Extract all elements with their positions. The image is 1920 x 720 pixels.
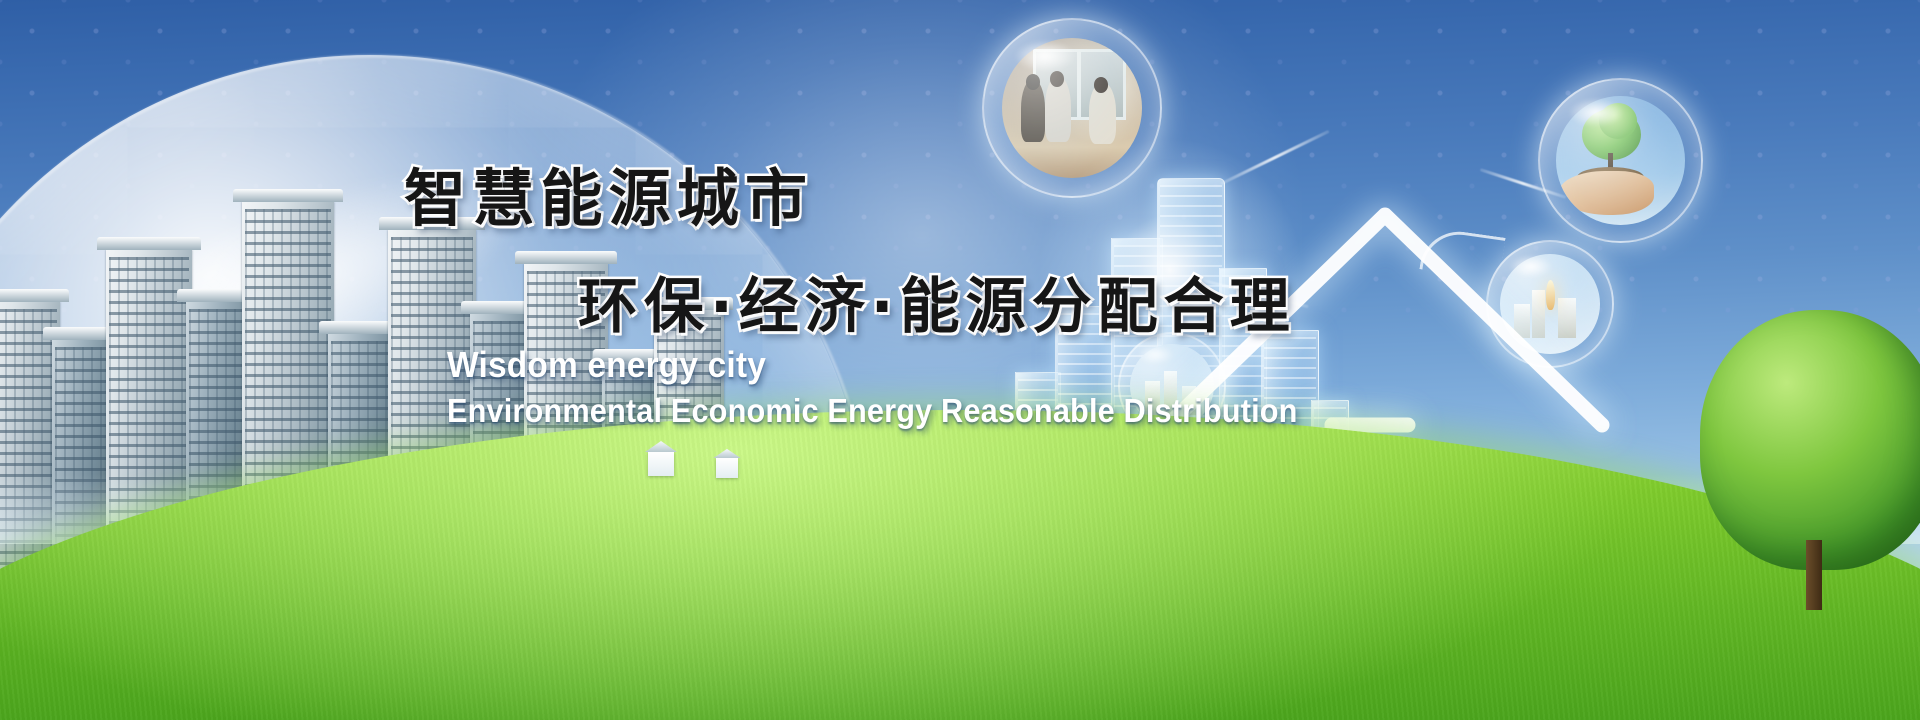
subheadline-chinese: 环保·经济·能源分配合理 [578, 258, 1296, 345]
subheadline-english: Environmental Economic Energy Reasonable… [447, 392, 1298, 430]
headline-chinese: 智慧能源城市 [404, 148, 813, 238]
banner-copy: 智慧能源城市 环保·经济·能源分配合理 Wisdom energy city E… [0, 0, 1920, 720]
headline-english: Wisdom energy city [447, 344, 766, 386]
hero-banner: 智慧能源城市 环保·经济·能源分配合理 Wisdom energy city E… [0, 0, 1920, 720]
